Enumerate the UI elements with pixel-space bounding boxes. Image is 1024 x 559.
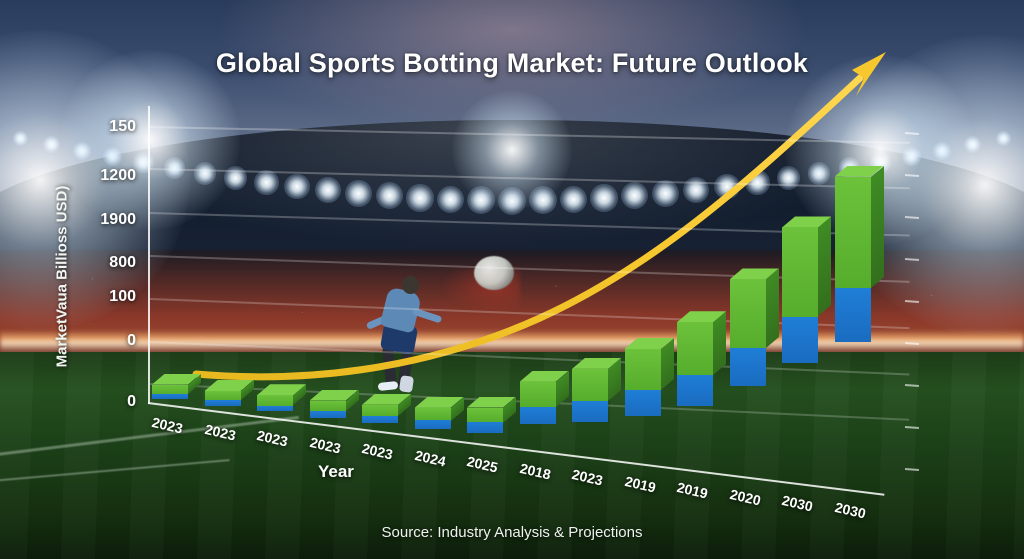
bar-segment-blue [677,375,713,406]
bar-face-front [520,382,556,407]
bar-face-front [415,420,451,428]
bar-face-front [415,429,451,437]
bar-face-front [625,390,661,415]
bar-segment-blue [520,407,556,424]
bar-face-side [818,352,831,482]
bar-segment-green [205,391,241,400]
bar-face-front [467,408,503,423]
bar-segment-navy [520,424,556,449]
bar-segment-navy [730,386,766,475]
bar-segment-green [782,227,818,316]
bar-face-front [362,416,398,423]
bar-segment-blue [310,411,346,418]
bar-segment-green [362,405,398,416]
bar-face-front [152,394,188,400]
bar-face-front [152,399,188,404]
bar-face-front [205,400,241,406]
bar-segment-blue [362,416,398,423]
bar-segment-blue [782,317,818,363]
bar-face-side [871,331,884,489]
y-tick-label: 150 [48,118,136,136]
bar-segment-navy [835,342,871,489]
bar-face-front [782,227,818,316]
bar-segment-green [520,382,556,407]
bar-face-front [572,422,608,456]
bar-segment-green [835,177,871,288]
bar-segment-green [730,279,766,348]
bar-segment-green [152,385,188,394]
bar-face-front [677,322,713,375]
bar-segment-navy [362,423,398,430]
bar-face-side [766,268,779,348]
bar-segment-blue [152,394,188,400]
bar-segment-green [625,349,661,390]
bar-face-front [677,406,713,469]
bar-segment-green [677,322,713,375]
bar-face-front [310,401,346,411]
bar-face-front [730,279,766,348]
bar-face-front [415,408,451,421]
bar-segment-navy [257,411,293,417]
bar-face-front [205,406,241,411]
y-axis-title: MarketVaua Billioss USD) [54,167,71,387]
bar-face-front [467,422,503,432]
bar-segment-navy [677,406,713,469]
bar-face-front [730,348,766,386]
bar-segment-navy [782,363,818,482]
bar-face-front [257,411,293,417]
bar-face-front [520,407,556,424]
bar-segment-navy [310,418,346,424]
bar-face-front [835,177,871,288]
bar-segment-blue [835,288,871,342]
bar-segment-blue [415,420,451,428]
bar-face-front [782,317,818,363]
bar-segment-blue [205,400,241,406]
bar-segment-navy [152,399,188,404]
bar-face-front [835,342,871,489]
bar-face-front [625,416,661,463]
bar-face-front [730,386,766,475]
bar-face-front [677,375,713,406]
bar-face-front [835,288,871,342]
bar-segment-navy [467,433,503,443]
chart-image: 1501200190080010000 20232023202320232023… [0,0,1024,559]
y-axis-line [148,106,150,404]
bar-face-front [625,349,661,390]
bar-segment-green [310,401,346,411]
bar-face-front [257,395,293,405]
bar-segment-navy [415,429,451,437]
bar-face-front [310,418,346,424]
bar-face-side [818,216,831,316]
bar-face-front [572,369,608,401]
bar-face-front [572,401,608,422]
bar-face-side [766,375,779,475]
bar-segment-blue [730,348,766,386]
bar-face-front [205,391,241,400]
bar-face-front [152,385,188,394]
bar-segment-navy [205,406,241,411]
bar-face-front [520,424,556,449]
bar-face-side [871,166,884,288]
bar-segment-green [572,369,608,401]
bar-segment-navy [572,422,608,456]
bar-face-front [467,433,503,443]
bar-face-side [713,395,726,469]
bar-face-front [362,423,398,430]
bar-face-front [310,411,346,418]
bar-face-front [257,406,293,412]
y-tick-label: 0 [48,393,136,411]
bar-segment-green [467,408,503,423]
bar-segment-blue [572,401,608,422]
bar-segment-blue [467,422,503,432]
bar-segment-blue [625,390,661,415]
source-note: Source: Industry Analysis & Projections [0,524,1024,541]
chart-title: Global Sports Botting Market: Future Out… [0,48,1024,79]
bar-face-front [782,363,818,482]
bar-segment-green [415,408,451,421]
bar-segment-blue [257,406,293,412]
bar-segment-green [257,395,293,405]
x-axis-title: Year [318,462,354,482]
bar-segment-navy [625,416,661,463]
bar-face-front [362,405,398,416]
